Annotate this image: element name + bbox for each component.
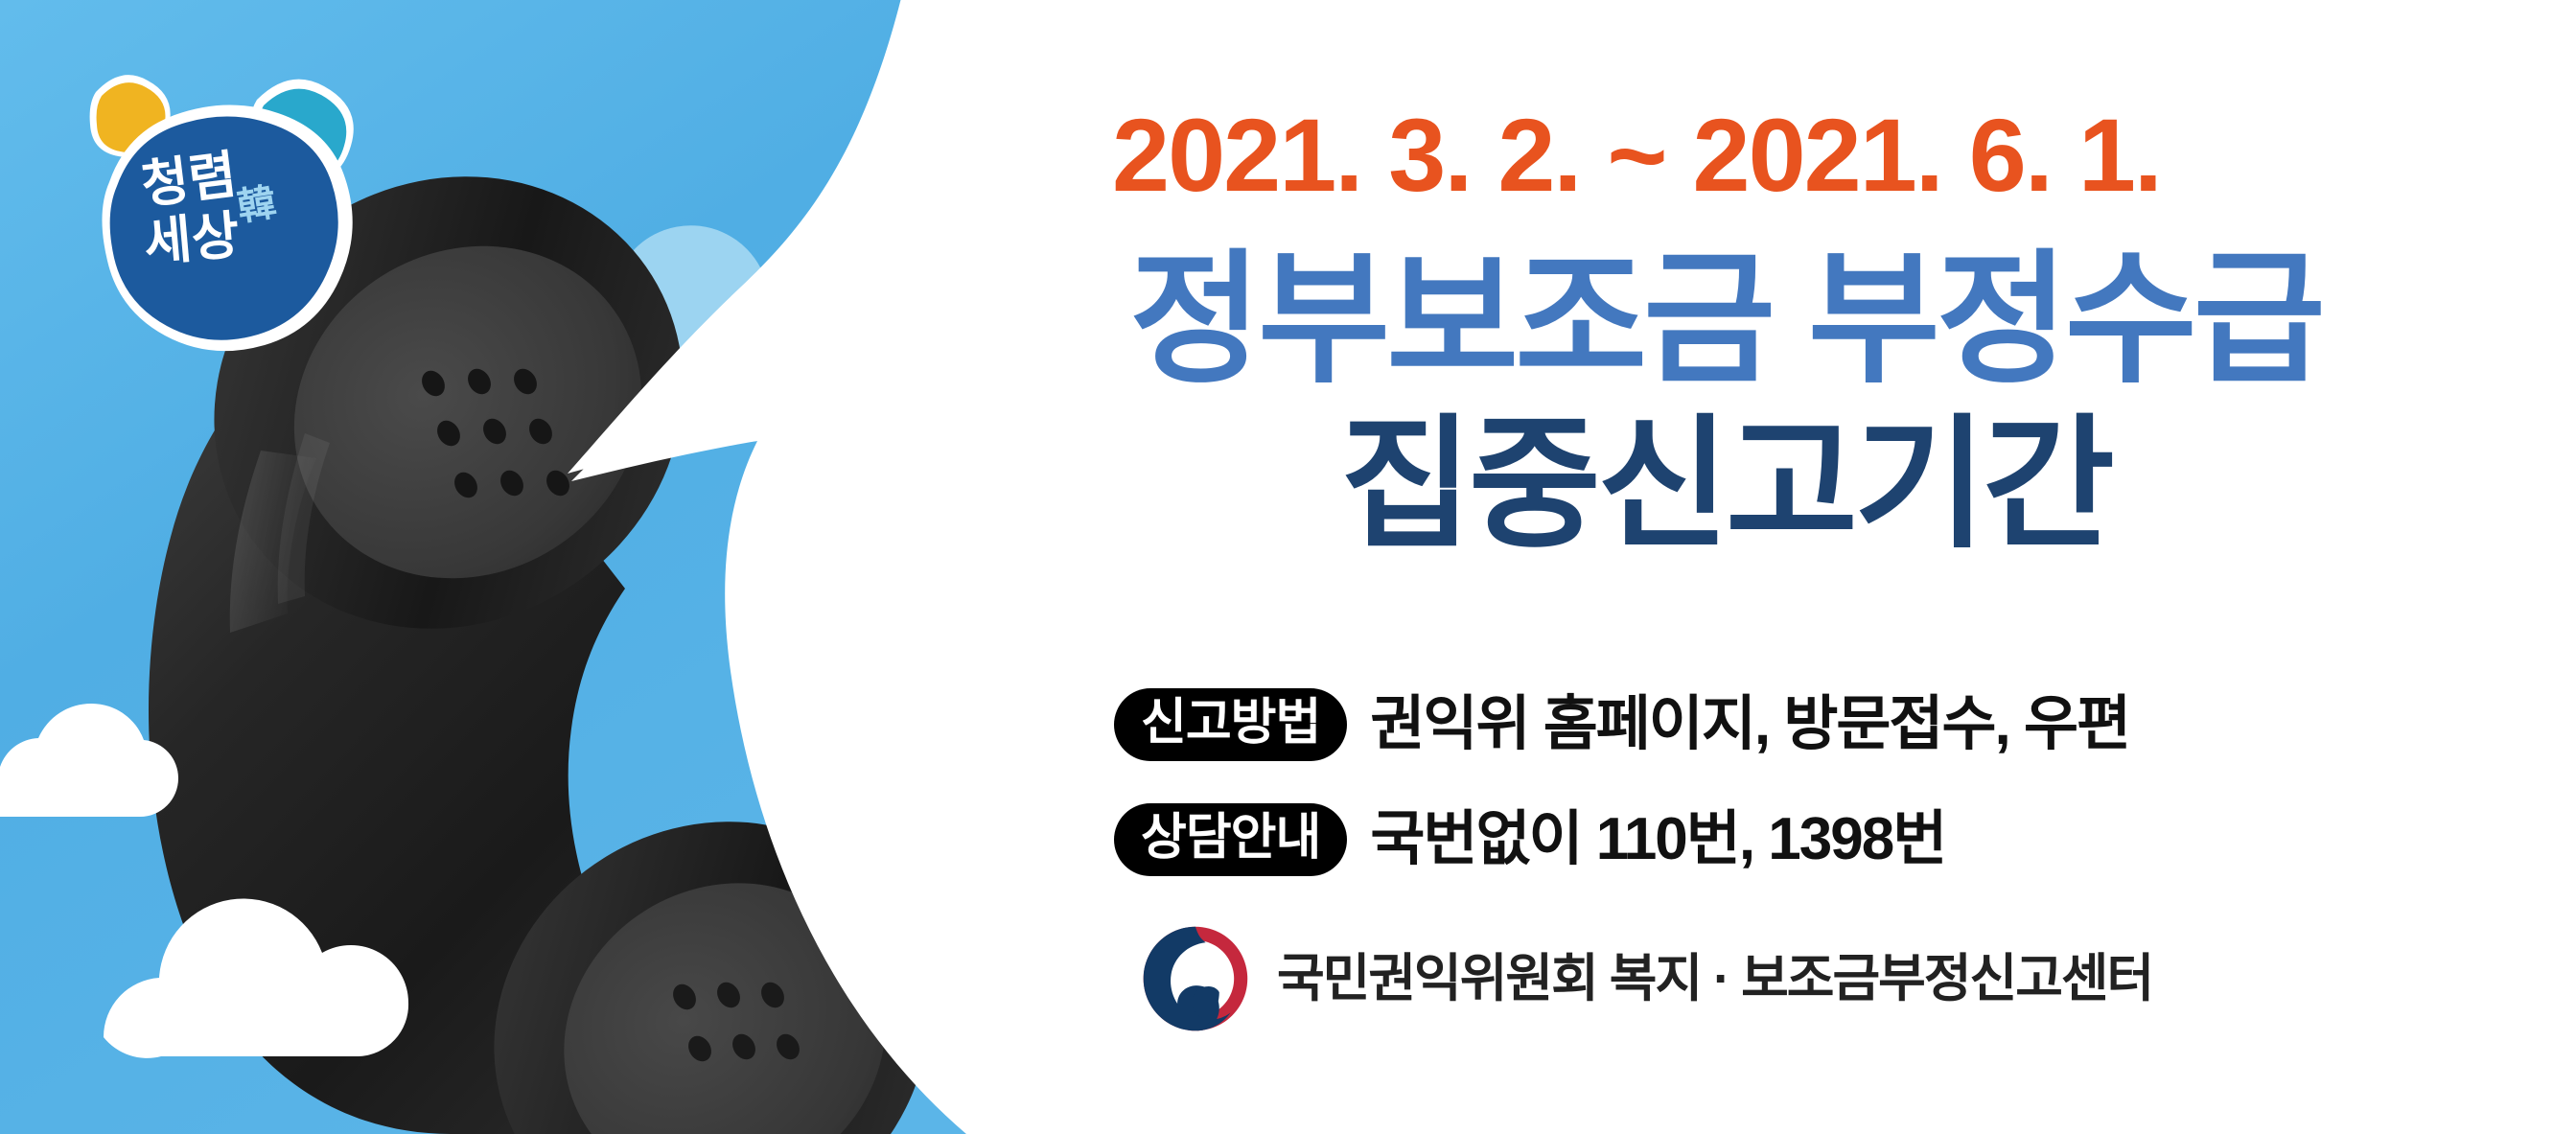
illustration-panel: 청렴 세상 韓 [0, 0, 1055, 1134]
sky-background: 청렴 세상 韓 [0, 0, 1055, 1134]
status-badge-consultation: 상담안내 [1114, 803, 1347, 876]
status-badge-report-method: 신고방법 [1114, 688, 1347, 761]
info-row-consultation: 상담안내 국번없이 110번, 1398번 [1114, 803, 1945, 876]
campaign-date-range: 2021. 3. 2. ~ 2021. 6. 1. [1112, 104, 2454, 207]
page-title-line-2: 집중신고기간 [1007, 412, 2445, 556]
info-text-report-method: 권익위 홈페이지, 방문접수, 우편 [1370, 695, 2129, 754]
info-text-consultation: 국번없이 110번, 1398번 [1370, 810, 1945, 869]
emblem-text-line2: 세상 [142, 205, 242, 273]
footer-organization-name: 국민권익위원회 복지 · 보조금부정신고센터 [1277, 953, 2152, 1005]
content-panel: 2021. 3. 2. ~ 2021. 6. 1. 정부보조금 부정수급 집중신… [1007, 0, 2576, 1134]
emblem-accent-char: 韓 [234, 180, 279, 230]
campaign-banner: 청렴 세상 韓 2021. 3. 2. ~ 2021. 6. 1. 정부보조금 … [0, 0, 2576, 1134]
info-row-report-method: 신고방법 권익위 홈페이지, 방문접수, 우편 [1114, 688, 2129, 761]
korea-government-taegeuk-logo [1139, 922, 1252, 1035]
page-title-line-1: 정부보조금 부정수급 [1007, 247, 2445, 391]
footer: 국민권익위원회 복지 · 보조금부정신고센터 [1139, 922, 2152, 1035]
emblem-blob: 청렴 세상 韓 [102, 104, 352, 351]
